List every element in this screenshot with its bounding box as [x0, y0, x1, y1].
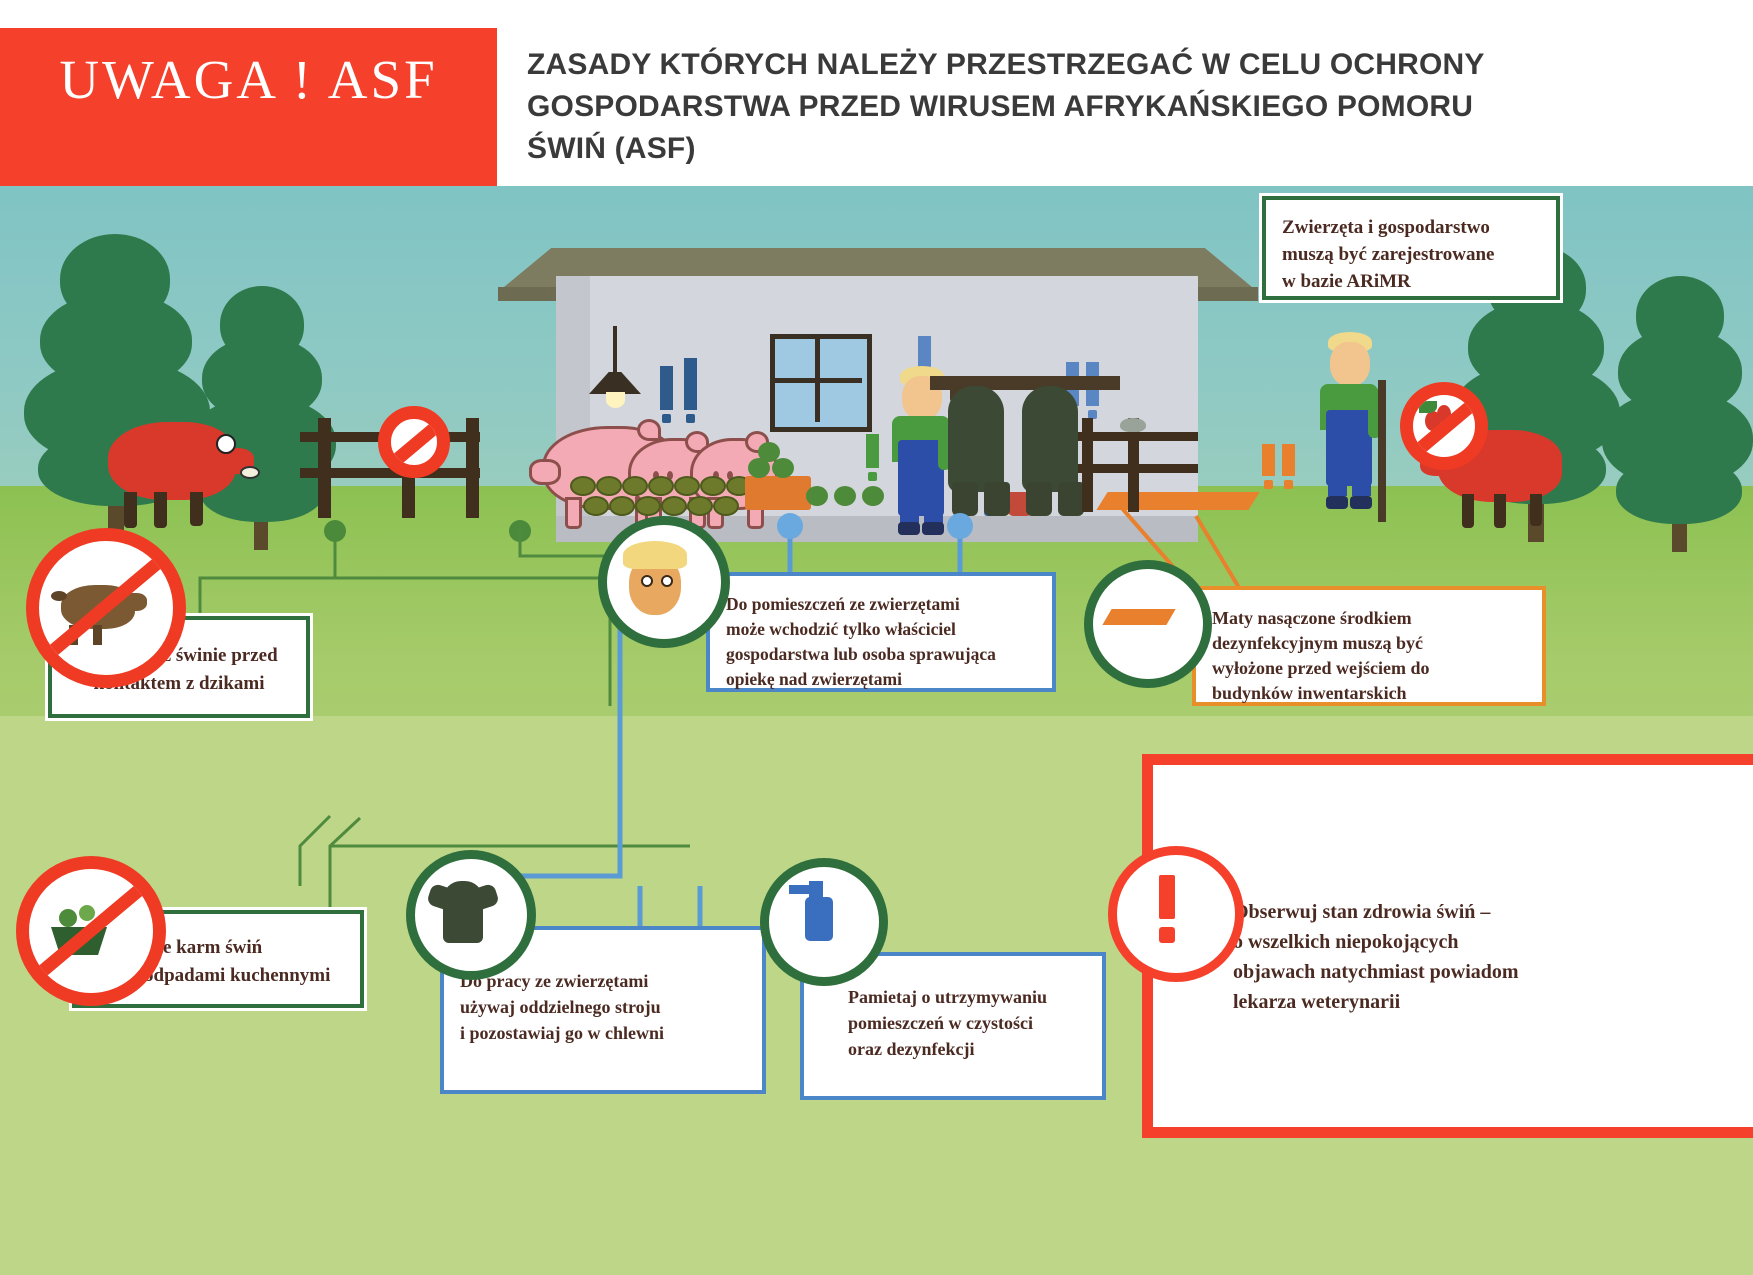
page-title-line-3: ŚWIŃ (ASF)	[527, 128, 1537, 170]
exclamation-icon	[684, 358, 697, 410]
exclamation-icon	[1282, 444, 1295, 476]
cabbage	[758, 442, 780, 462]
callout-disinfection-mats-line-4: budynków inwentarskich	[1212, 681, 1429, 706]
callout-access-control-line-4: opiekę nad zwierzętami	[726, 667, 996, 692]
pitchfork-handle	[1378, 380, 1386, 522]
lamp-bulb	[606, 392, 625, 408]
callout-disinfection-mats[interactable]: Maty nasączone środkiem dezynfekcyjnym m…	[1192, 586, 1546, 706]
callout-arimr-text: Zwierzęta i gospodarstwo muszą być zarej…	[1266, 200, 1510, 309]
work-clothing-icon[interactable]	[406, 850, 536, 980]
callout-disinfection-mats-line-2: dezynfekcyjnym muszą być	[1212, 631, 1429, 656]
wild-boar	[108, 422, 236, 500]
vegetable-crate	[745, 476, 811, 510]
callout-arimr-line-1: Zwierzęta i gospodarstwo	[1282, 214, 1494, 241]
bird	[1120, 418, 1146, 432]
no-entry-sign	[378, 406, 450, 478]
barn-window	[770, 334, 872, 432]
callout-arimr-line-2: muszą być zarejestrowane	[1282, 241, 1494, 268]
coat-rack-bar	[930, 376, 1120, 390]
rubber-boot	[1026, 482, 1052, 516]
no-kitchen-waste-icon[interactable]	[16, 856, 166, 1006]
fence-post	[466, 418, 479, 518]
callout-cleanliness-line-2: pomieszczeń w czystości	[848, 1010, 1047, 1036]
spruce-tree	[186, 286, 336, 546]
callout-separate-clothing-line-2: używaj oddzielnego stroju	[460, 994, 664, 1020]
callout-arimr-line-3: w bazie ARiMR	[1282, 268, 1494, 295]
callout-disinfection-mats-text: Maty nasączone środkiem dezynfekcyjnym m…	[1196, 592, 1445, 720]
callout-no-kitchen-waste-line-1: Nie karm świń	[144, 934, 330, 962]
straw-bales	[570, 476, 750, 518]
callout-no-kitchen-waste-line-2: odpadami kuchennymi	[144, 962, 330, 990]
spray-bottle-icon[interactable]	[760, 858, 888, 986]
callout-health-monitoring-line-1: Obserwuj stan zdrowia świń –	[1233, 897, 1519, 927]
callout-cleanliness-line-3: oraz dezynfekcji	[848, 1036, 1047, 1062]
work-coat	[1022, 386, 1078, 492]
disinfection-mat-icon[interactable]	[1084, 560, 1212, 688]
callout-health-monitoring-line-2: o wszelkich niepokojących	[1233, 927, 1519, 957]
callout-health-monitoring-text: Obserwuj stan zdrowia świń – o wszelkich…	[1217, 883, 1535, 1031]
exclamation-icon	[1262, 444, 1275, 476]
callout-health-monitoring-line-4: lekarza weterynarii	[1233, 987, 1519, 1017]
work-coat	[948, 386, 1004, 492]
callout-access-control-line-3: gospodarstwa lub osoba sprawująca	[726, 642, 996, 667]
callout-access-control[interactable]: Do pomieszczeń ze zwierzętami może wchod…	[706, 572, 1056, 692]
page-title-line-1: ZASADY KTÓRYCH NALEŻY PRZESTRZEGAĆ W CEL…	[527, 44, 1537, 86]
exclamation-icon	[660, 366, 673, 410]
callout-cleanliness-text: Pamietaj o utrzymywaniu pomieszczeń w cz…	[832, 970, 1063, 1076]
exclamation-icon	[866, 434, 879, 468]
no-berries-sign	[1400, 382, 1488, 470]
callout-access-control-text: Do pomieszczeń ze zwierzętami może wchod…	[710, 578, 1012, 706]
page-title-line-2: GOSPODARSTWA PRZED WIRUSEM AFRYKAŃSKIEGO…	[527, 86, 1537, 128]
rubber-boot	[984, 482, 1010, 516]
cabbage	[834, 486, 856, 506]
fence-post	[318, 418, 331, 518]
exclamation-warning-icon[interactable]	[1108, 846, 1244, 982]
asf-poster: UWAGA ! ASF ZASADY KTÓRYCH NALEŻY PRZEST…	[0, 0, 1753, 1275]
alert-banner-label: UWAGA ! ASF	[0, 48, 497, 111]
cabbage	[862, 486, 884, 506]
callout-disinfection-mats-line-1: Maty nasączone środkiem	[1212, 606, 1429, 631]
rubber-boot	[952, 482, 978, 516]
spruce-tree	[1602, 276, 1753, 546]
cabbage	[806, 486, 828, 506]
callout-disinfection-mats-line-3: wyłożone przed wejściem do	[1212, 656, 1429, 681]
disinfection-mat	[1096, 492, 1259, 510]
poster-header: UWAGA ! ASF ZASADY KTÓRYCH NALEŻY PRZEST…	[0, 0, 1753, 190]
fence-post	[1082, 418, 1093, 512]
farmer-face-icon[interactable]	[598, 516, 730, 648]
callout-arimr[interactable]: Zwierzęta i gospodarstwo muszą być zarej…	[1262, 196, 1560, 300]
rubber-boot	[1058, 482, 1084, 516]
lamp-cord	[613, 326, 617, 374]
cabbage	[772, 458, 794, 478]
no-wild-boar-icon[interactable]	[26, 528, 186, 688]
callout-access-control-line-1: Do pomieszczeń ze zwierzętami	[726, 592, 996, 617]
callout-access-control-line-2: może wchodzić tylko właściciel	[726, 617, 996, 642]
fence-post	[1128, 418, 1139, 512]
page-title: ZASADY KTÓRYCH NALEŻY PRZESTRZEGAĆ W CEL…	[527, 44, 1537, 170]
callout-cleanliness-line-1: Pamietaj o utrzymywaniu	[848, 984, 1047, 1010]
callout-separate-clothing-line-3: i pozostawiaj go w chlewni	[460, 1020, 664, 1046]
callout-health-monitoring-line-3: objawach natychmiast powiadom	[1233, 957, 1519, 987]
